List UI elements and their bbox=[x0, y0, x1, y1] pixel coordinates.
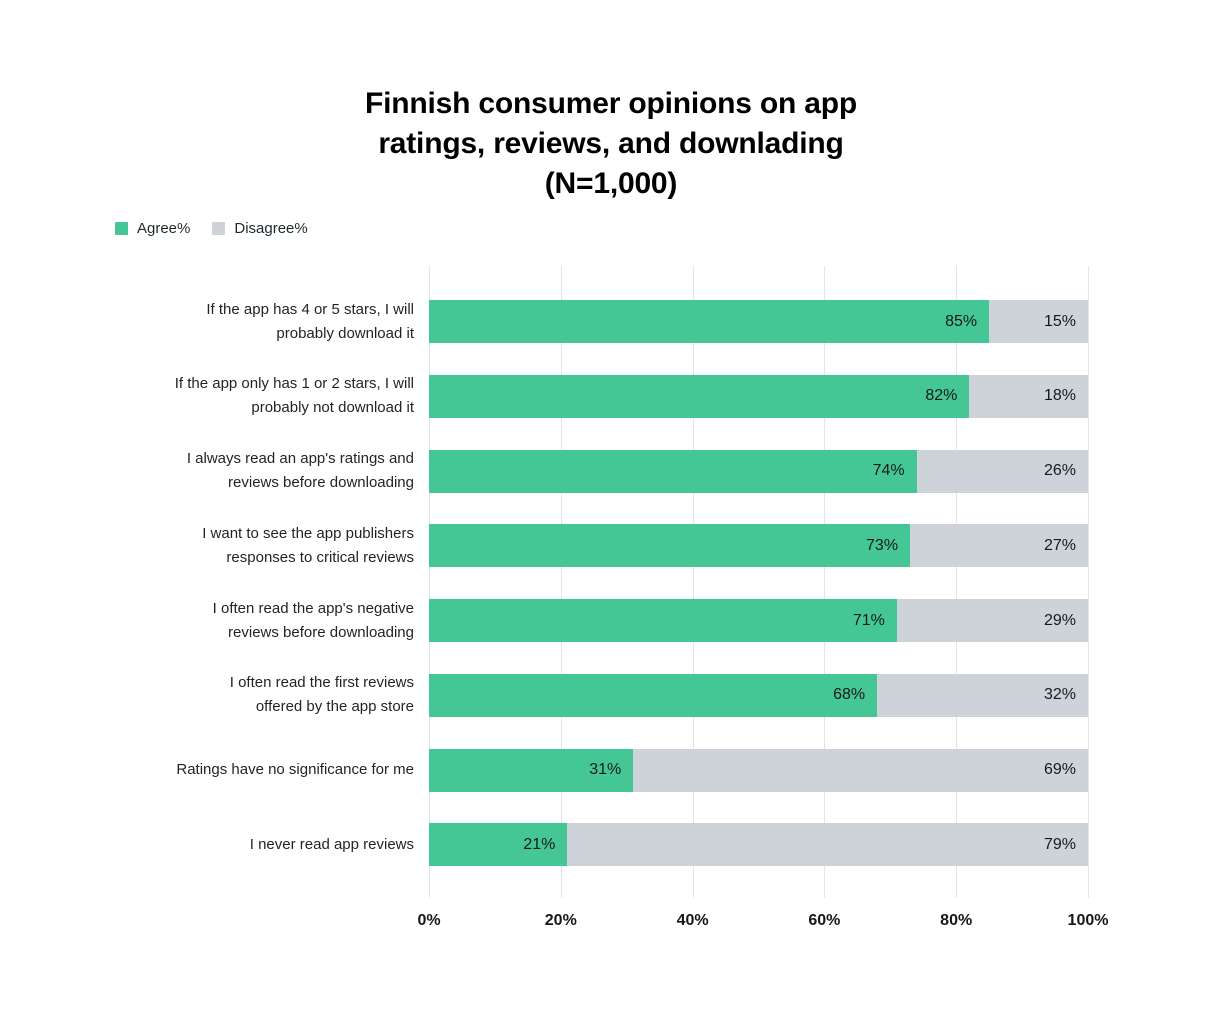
category-label: I never read app reviews bbox=[60, 833, 414, 857]
chart-legend: Agree% Disagree% bbox=[115, 221, 308, 236]
x-axis: 0%20%40%60%80%100% bbox=[429, 898, 1088, 942]
category-axis: If the app has 4 or 5 stars, I will prob… bbox=[60, 266, 414, 898]
bar-segment-agree[interactable]: 31% bbox=[429, 749, 633, 792]
category-label: I often read the first reviews offered b… bbox=[60, 671, 414, 719]
bar-segment-disagree[interactable]: 15% bbox=[989, 300, 1088, 343]
bar-row: 21%79% bbox=[429, 823, 1088, 866]
plot-area: 85%15%82%18%74%26%73%27%71%29%68%32%31%6… bbox=[429, 266, 1088, 898]
bar-row: 85%15% bbox=[429, 300, 1088, 343]
category-label: If the app only has 1 or 2 stars, I will… bbox=[60, 372, 414, 420]
bar-row: 82%18% bbox=[429, 375, 1088, 418]
category-label: Ratings have no significance for me bbox=[60, 758, 414, 782]
bar-segment-agree[interactable]: 73% bbox=[429, 524, 910, 567]
bar-row: 71%29% bbox=[429, 599, 1088, 642]
bar-row: 68%32% bbox=[429, 674, 1088, 717]
x-tick-label: 100% bbox=[1068, 912, 1109, 930]
legend-item-disagree[interactable]: Disagree% bbox=[212, 221, 307, 236]
bar-row: 31%69% bbox=[429, 749, 1088, 792]
category-label: I often read the app's negative reviews … bbox=[60, 597, 414, 645]
bar-segment-agree[interactable]: 85% bbox=[429, 300, 989, 343]
bar-segment-disagree[interactable]: 32% bbox=[877, 674, 1088, 717]
legend-label-agree: Agree% bbox=[137, 221, 190, 236]
bar-segment-agree[interactable]: 74% bbox=[429, 450, 917, 493]
bar-row: 74%26% bbox=[429, 450, 1088, 493]
bar-segment-disagree[interactable]: 26% bbox=[917, 450, 1088, 493]
bar-segment-agree[interactable]: 21% bbox=[429, 823, 567, 866]
bar-segment-disagree[interactable]: 69% bbox=[633, 749, 1088, 792]
legend-label-disagree: Disagree% bbox=[234, 221, 307, 236]
x-tick-label: 80% bbox=[940, 912, 972, 930]
x-tick-label: 60% bbox=[808, 912, 840, 930]
category-label: I want to see the app publishers respons… bbox=[60, 522, 414, 570]
bar-segment-disagree[interactable]: 18% bbox=[969, 375, 1088, 418]
category-label: I always read an app's ratings and revie… bbox=[60, 447, 414, 495]
bar-segment-disagree[interactable]: 27% bbox=[910, 524, 1088, 567]
legend-swatch-agree-icon bbox=[115, 222, 128, 235]
bar-segment-disagree[interactable]: 29% bbox=[897, 599, 1088, 642]
x-tick-label: 0% bbox=[417, 912, 440, 930]
bar-rows: 85%15%82%18%74%26%73%27%71%29%68%32%31%6… bbox=[429, 266, 1088, 898]
bar-segment-agree[interactable]: 82% bbox=[429, 375, 969, 418]
bar-segment-agree[interactable]: 71% bbox=[429, 599, 897, 642]
chart-container: Finnish consumer opinions on app ratings… bbox=[0, 0, 1222, 1019]
legend-item-agree[interactable]: Agree% bbox=[115, 221, 190, 236]
legend-swatch-disagree-icon bbox=[212, 222, 225, 235]
bar-segment-disagree[interactable]: 79% bbox=[567, 823, 1088, 866]
x-tick-label: 40% bbox=[677, 912, 709, 930]
category-label: If the app has 4 or 5 stars, I will prob… bbox=[60, 298, 414, 346]
bar-row: 73%27% bbox=[429, 524, 1088, 567]
chart-title: Finnish consumer opinions on app ratings… bbox=[261, 84, 961, 204]
x-tick-label: 20% bbox=[545, 912, 577, 930]
gridline-100 bbox=[1088, 266, 1089, 898]
bar-segment-agree[interactable]: 68% bbox=[429, 674, 877, 717]
